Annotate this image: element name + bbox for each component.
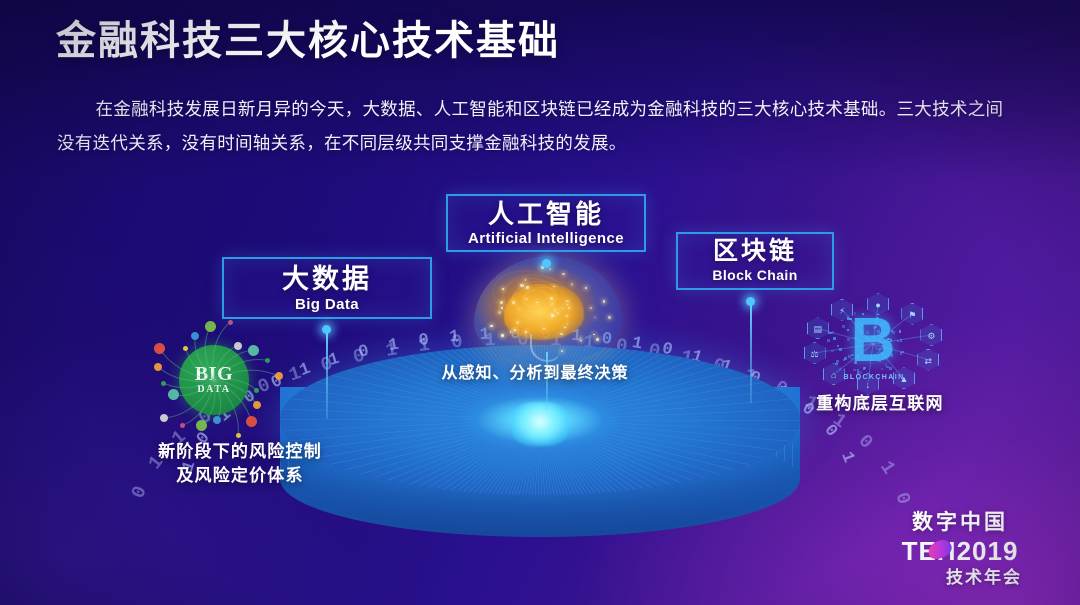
big-data-node-dot: [275, 372, 283, 380]
blockchain-pixel: [849, 318, 852, 321]
brain-icon: [474, 256, 622, 364]
logo-line-3: 技术年会: [876, 566, 1044, 589]
event-logo: 数字中国 TEH2019 技术年会: [876, 509, 1044, 589]
blockchain-pixel: [854, 312, 857, 315]
label-big-data-en: Big Data: [224, 295, 430, 315]
blockchain-pixel: [829, 332, 832, 335]
blockchain-pixel: [839, 368, 842, 371]
blockchain-pixel: [854, 337, 857, 340]
blockchain-pixel: [844, 357, 847, 360]
blockchain-pixel: [889, 367, 892, 370]
blockchain-pixel: [891, 354, 894, 357]
blockchain-pixel: [891, 330, 894, 333]
blockchain-pixel: [877, 330, 880, 333]
blockchain-pixel: [877, 317, 880, 320]
connector-stem-blockchain: [750, 305, 752, 403]
blockchain-pixel: [859, 330, 862, 333]
logo-line-2: TEH2019: [902, 536, 1019, 566]
caption-blockchain: 重构底层互联网: [780, 392, 980, 416]
caption-ai: 从感知、分析到最终决策: [420, 362, 650, 386]
blockchain-pixel: [847, 338, 850, 341]
blockchain-pixel: [857, 369, 860, 372]
brain-neuron-dot: [580, 337, 581, 338]
big-data-node-dot: [161, 381, 166, 386]
blockchain-pixel: [847, 329, 850, 332]
blockchain-pixel: [880, 324, 883, 327]
big-data-node-dot: [154, 363, 162, 371]
disc-center-glow: [512, 402, 568, 446]
blockchain-pixel: [879, 348, 882, 351]
blockchain-pixel: [886, 366, 889, 369]
blockchain-pixel: [851, 358, 854, 361]
blockchain-pixel: [866, 331, 869, 334]
blockchain-pixel: [890, 339, 893, 342]
brain-neuron-dot: [603, 300, 606, 303]
blockchain-pixel: [863, 367, 866, 370]
big-data-node-dot: [248, 345, 259, 356]
intro-paragraph-text: 在金融科技发展日新月异的今天，大数据、人工智能和区块链已经成为金融科技的三大核心…: [57, 92, 1017, 160]
logo-line-1: 数字中国: [876, 509, 1044, 536]
brain-neuron-dot: [593, 334, 595, 336]
blockchain-pixel: [873, 326, 876, 329]
brain-neuron-dot: [562, 273, 565, 276]
blockchain-pixel: [879, 341, 882, 344]
brain-neuron-dot: [549, 268, 551, 270]
label-box-big-data[interactable]: 大数据 Big Data: [222, 257, 432, 319]
blockchain-pixel: [858, 377, 861, 380]
label-ai-en: Artificial Intelligence: [448, 229, 644, 249]
slide-canvas: 金融科技三大核心技术基础 在金融科技发展日新月异的今天，大数据、人工智能和区块链…: [0, 0, 1080, 605]
brain-neuron-dot: [590, 307, 592, 309]
blockchain-pixel: [881, 368, 884, 371]
brain-neuron-dot: [501, 334, 504, 337]
big-data-node-dot: [228, 320, 233, 325]
blockchain-icon: B BLOCKCHAIN ⇄▲↓⌂⚖▤⚡●⚑⚙: [795, 302, 950, 402]
blockchain-pixel: [878, 360, 881, 363]
blockchain-pixel: [883, 347, 886, 350]
caption-big-data: 新阶段下的风险控制 及风险定价体系: [95, 440, 385, 488]
blockchain-pixel: [851, 354, 854, 357]
big-data-node-dot: [236, 433, 241, 438]
blockchain-pixel: [900, 339, 903, 342]
blockchain-pixel: [899, 330, 902, 333]
big-data-node-dot: [205, 321, 216, 332]
label-big-data-cn: 大数据: [224, 263, 430, 295]
blockchain-pixel: [857, 356, 860, 359]
brain-neuron-dot: [571, 283, 573, 285]
big-data-node-dot: [246, 416, 257, 427]
caption-big-data-line1: 新阶段下的风险控制: [95, 440, 385, 464]
page-title: 金融科技三大核心技术基础: [56, 16, 560, 66]
blockchain-pixel: [848, 355, 851, 358]
disc-rib: [792, 443, 793, 467]
brain-neuron-dot: [594, 317, 595, 318]
label-blockchain-cn: 区块链: [678, 237, 832, 266]
blockchain-pixel: [900, 352, 903, 355]
big-data-node-dot: [196, 420, 207, 431]
blockchain-pixel: [883, 326, 886, 329]
blockchain-pixel: [874, 354, 877, 357]
blockchain-pixel: [853, 369, 856, 372]
blockchain-pixel: [832, 331, 835, 334]
blockchain-pixel: [857, 372, 860, 375]
big-data-node-dot: [254, 388, 259, 393]
blockchain-pixel: [882, 332, 885, 335]
label-ai-cn: 人工智能: [448, 199, 644, 229]
caption-big-data-line2: 及风险定价体系: [95, 464, 385, 488]
brain-neuron-dot: [608, 316, 611, 319]
blockchain-pixel: [827, 339, 830, 342]
label-blockchain-en: Block Chain: [678, 266, 832, 285]
blockchain-pixel: [870, 356, 873, 359]
brain-neuron-dot: [585, 287, 587, 289]
brain-neuron-dot: [490, 325, 492, 327]
blockchain-pixel: [862, 313, 865, 316]
brain-neuron-dot: [561, 350, 563, 352]
blockchain-pixel: [858, 322, 861, 325]
label-box-blockchain[interactable]: 区块链 Block Chain: [676, 232, 834, 290]
label-box-ai[interactable]: 人工智能 Artificial Intelligence: [446, 194, 646, 252]
big-data-link-lines: [133, 323, 283, 441]
big-data-node-dot: [154, 343, 165, 354]
blockchain-pixel: [839, 348, 842, 351]
blockchain-pixel: [881, 352, 884, 355]
intro-paragraph: 在金融科技发展日新月异的今天，大数据、人工智能和区块链已经成为金融科技的三大核心…: [57, 92, 1017, 160]
big-data-node-dot: [234, 342, 242, 350]
blockchain-pixel: [854, 361, 857, 364]
connector-stem-big-data: [326, 333, 328, 419]
brain-neuron-dot: [596, 338, 599, 341]
brain-neuron-dot: [580, 339, 582, 341]
blockchain-pixel: [837, 345, 840, 348]
connector-pin-ai: [542, 259, 551, 268]
big-data-icon: BIG DATA: [133, 323, 283, 441]
blockchain-pixel: [859, 371, 862, 374]
brain-neuron-dot: [498, 311, 501, 314]
brain-neuron-dot: [560, 333, 562, 335]
brain-neuron-dot: [564, 327, 566, 329]
blockchain-pixel: [860, 324, 863, 327]
blockchain-pixel: [877, 352, 880, 355]
blockchain-pixel: [835, 363, 838, 366]
blockchain-pixel: [833, 337, 836, 340]
blockchain-pixel: [831, 350, 834, 353]
blockchain-pixel: [842, 325, 845, 328]
